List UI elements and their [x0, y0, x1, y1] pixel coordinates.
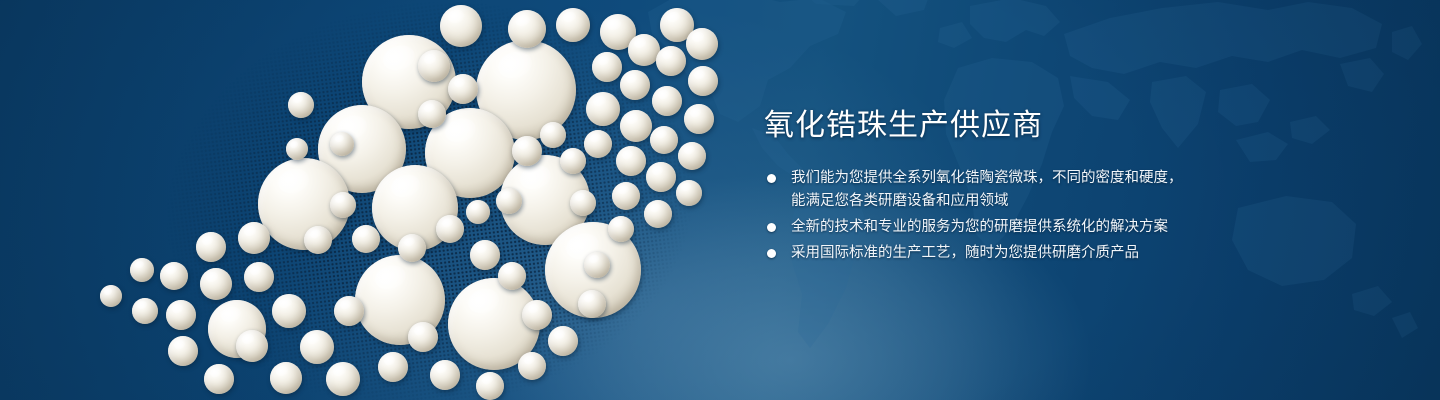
bead-medium	[244, 262, 274, 292]
bullet-dot-icon	[767, 223, 776, 232]
bead-medium	[130, 258, 154, 282]
bead-medium	[678, 142, 706, 170]
bead-medium	[270, 362, 302, 394]
bead-medium	[608, 216, 634, 242]
bead-medium	[656, 46, 686, 76]
bullet-dot-icon	[767, 249, 776, 258]
bead-medium	[168, 336, 198, 366]
bead-medium	[300, 330, 334, 364]
list-item-line-2: 能满足您各类研磨设备和应用领域	[791, 190, 1364, 213]
bead-medium	[592, 52, 622, 82]
bead-medium	[684, 104, 714, 134]
bead-medium	[160, 262, 188, 290]
bead-medium	[352, 225, 380, 253]
bead-medium	[498, 262, 526, 290]
bead-medium	[272, 294, 306, 328]
bead-medium	[496, 188, 522, 214]
bead-medium	[100, 285, 122, 307]
bead-medium	[196, 232, 226, 262]
bead-medium	[548, 326, 578, 356]
bead-medium	[334, 296, 364, 326]
hero-banner: 氧化锆珠生产供应商 我们能为您提供全系列氧化锆陶瓷微珠，不同的密度和硬度， 能满…	[0, 0, 1440, 400]
bead-medium	[560, 148, 586, 174]
bead-medium	[620, 70, 650, 100]
bead-medium	[470, 240, 500, 270]
bead-medium	[408, 322, 438, 352]
bead-medium	[616, 146, 646, 176]
bead-medium	[652, 86, 682, 116]
bead-medium	[508, 10, 546, 48]
list-item: 全新的技术和专业的服务为您的研磨提供系统化的解决方案	[764, 216, 1364, 239]
bead-medium	[522, 300, 552, 330]
bead-medium	[398, 234, 426, 262]
bead-medium	[612, 182, 640, 210]
bead-medium	[584, 130, 612, 158]
bead-medium	[440, 5, 482, 47]
bead-medium	[518, 352, 546, 380]
bead-medium	[512, 136, 542, 166]
bead-medium	[578, 290, 606, 318]
bead-medium	[676, 180, 702, 206]
bead-medium	[418, 100, 446, 128]
list-item-line-1: 全新的技术和专业的服务为您的研磨提供系统化的解决方案	[791, 219, 1168, 235]
list-item-line-1: 我们能为您提供全系列氧化锆陶瓷微珠，不同的密度和硬度，	[791, 170, 1183, 186]
bead-medium	[556, 8, 590, 42]
bead-medium	[204, 364, 234, 394]
bead-medium	[286, 138, 308, 160]
bead-medium	[436, 215, 464, 243]
bead-medium	[326, 362, 360, 396]
bead-medium	[646, 162, 676, 192]
bead-medium	[288, 92, 314, 118]
bead-medium	[448, 74, 478, 104]
bullet-dot-icon	[767, 174, 776, 183]
bead-medium	[304, 226, 332, 254]
bead-medium	[236, 330, 268, 362]
banner-text-block: 氧化锆珠生产供应商 我们能为您提供全系列氧化锆陶瓷微珠，不同的密度和硬度， 能满…	[764, 108, 1364, 268]
bead-medium	[330, 132, 354, 156]
bead-medium	[586, 92, 620, 126]
bead-medium	[238, 222, 270, 254]
bead-medium	[686, 28, 718, 60]
bead-medium	[430, 360, 460, 390]
bead-medium	[330, 192, 356, 218]
bead-medium	[650, 126, 678, 154]
bead-medium	[132, 298, 158, 324]
bead-medium	[476, 372, 504, 400]
bead-medium	[466, 200, 490, 224]
bead-medium	[688, 66, 718, 96]
bead-medium	[644, 200, 672, 228]
list-item-line-1: 采用国际标准的生产工艺，随时为您提供研磨介质产品	[791, 245, 1139, 261]
list-item: 采用国际标准的生产工艺，随时为您提供研磨介质产品	[764, 242, 1364, 265]
zirconia-beads-photo	[0, 0, 760, 400]
feature-list: 我们能为您提供全系列氧化锆陶瓷微珠，不同的密度和硬度， 能满足您各类研磨设备和应…	[764, 167, 1364, 265]
bead-medium	[570, 190, 596, 216]
list-item: 我们能为您提供全系列氧化锆陶瓷微珠，不同的密度和硬度， 能满足您各类研磨设备和应…	[764, 167, 1364, 213]
bead-medium	[540, 122, 566, 148]
bead-medium	[620, 110, 652, 142]
bead-medium	[200, 268, 232, 300]
bead-medium	[418, 50, 450, 82]
bead-medium	[378, 352, 408, 382]
bead-medium	[166, 300, 196, 330]
page-title: 氧化锆珠生产供应商	[764, 108, 1364, 143]
bead-medium	[584, 252, 610, 278]
